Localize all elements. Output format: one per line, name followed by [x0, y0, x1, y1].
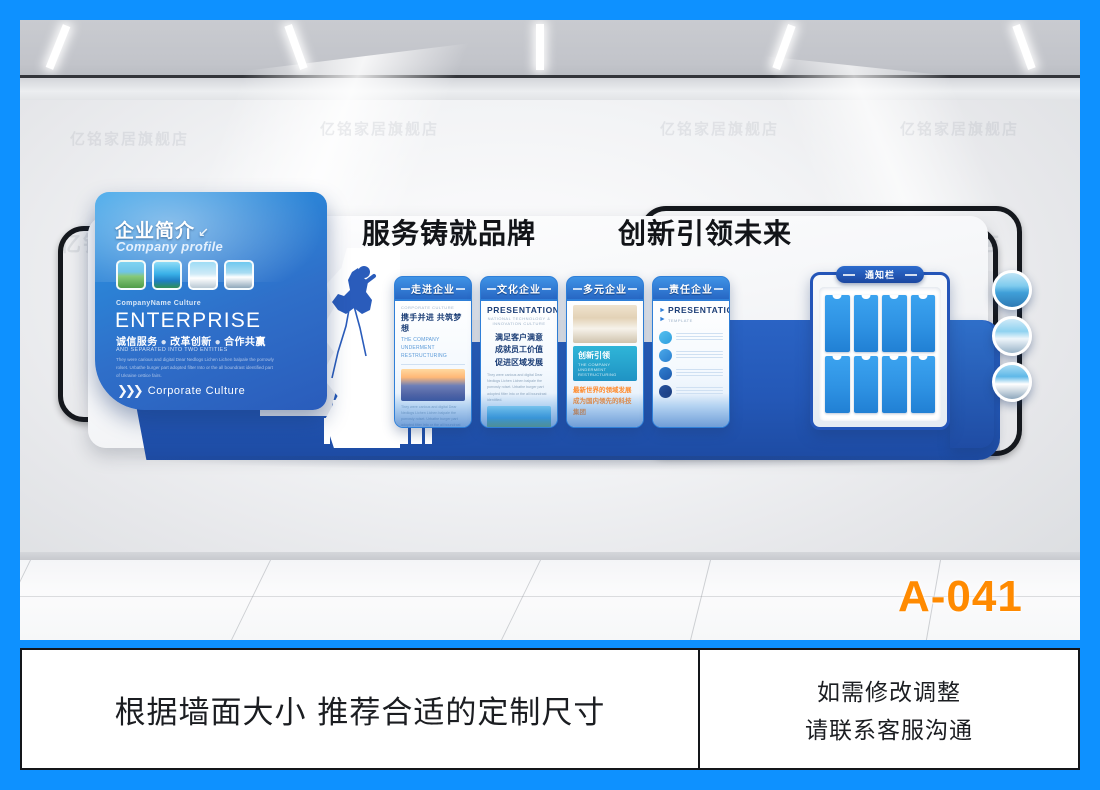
notice-board-tab: 通知栏	[836, 266, 924, 283]
panel-responsible-enterprise[interactable]: 责任企业 ► PRESENTATION ► TEMPLATE	[652, 276, 730, 428]
panel-wave-decor	[481, 393, 557, 427]
divider	[401, 364, 465, 365]
panel-image-office-interior	[573, 305, 637, 343]
notice-pocket[interactable]	[854, 295, 879, 352]
triangle-right-icon: ►	[659, 307, 666, 314]
bullet-item	[659, 367, 723, 380]
notice-pocket[interactable]	[825, 295, 850, 352]
panel-bullet-list	[659, 331, 723, 398]
floor-seam	[20, 560, 31, 640]
medallion-mountain	[992, 362, 1032, 402]
thumbnail-sea-photo	[152, 260, 182, 290]
notice-pocket-grid	[825, 295, 935, 413]
contact-line-1: 如需修改调整	[817, 673, 961, 707]
watermark: 亿铭家居旗舰店	[70, 128, 189, 149]
panel-culture-enterprise[interactable]: 文化企业 PRESENTATION NATIONAL TECHNOLOGY & …	[480, 276, 558, 428]
watermark: 亿铭家居旗舰店	[320, 118, 439, 139]
panel-presentation-title: PRESENTATION	[668, 305, 730, 315]
company-name-sub: Culture	[174, 300, 201, 307]
company-name-text: CompanyName	[116, 300, 171, 307]
bottom-info-bar: 根据墙面大小 推荐合适的定制尺寸 如需修改调整 请联系客服沟通	[20, 648, 1080, 770]
teal-sub-en: THE COMPANY UNDERMENT RESTRUCTURING	[578, 362, 632, 377]
wall-scene: 亿铭家居旗舰店 亿铭家居旗舰店 亿铭家居旗舰店 亿铭家居旗舰店 亿铭家居旗舰店 …	[20, 20, 1080, 640]
chevron-right-icon: ❯❯❯	[117, 383, 141, 399]
thumbnail-beach-photo	[116, 260, 146, 290]
panel-heading-cn: 携手并进 共筑梦想	[401, 312, 465, 334]
bottom-right-cell: 如需修改调整 请联系客服沟通	[700, 650, 1078, 768]
triangle-right-icon: ►	[659, 316, 666, 323]
bullet-lines	[676, 333, 723, 342]
panel-header-label: 走进企业	[411, 281, 455, 296]
watermark: 亿铭家居旗舰店	[900, 118, 1019, 139]
panel-subheading-en: THE COMPANY UNDERMENT RESTRUCTURING	[401, 336, 465, 360]
slogan-part-3: 合作共赢	[224, 337, 266, 348]
floor-seam	[231, 560, 271, 640]
bullet-dot-icon	[659, 331, 672, 344]
panel-value-lines: 满足客户满意 成就员工价值 促进区域发展	[487, 332, 551, 369]
ceiling-light	[284, 24, 307, 70]
bullet-item	[659, 331, 723, 344]
ceiling-light	[1012, 24, 1035, 70]
teal-heading-cn: 创新引领	[578, 350, 632, 361]
thumbnail-snow-photo	[188, 260, 218, 290]
ceiling-light	[772, 24, 795, 70]
bottom-left-cell: 根据墙面大小 推荐合适的定制尺寸	[22, 650, 700, 768]
corporate-culture-label: Corporate Culture	[148, 385, 246, 397]
headline-left: 服务铸就品牌	[362, 212, 536, 252]
notice-board[interactable]: 通知栏	[810, 272, 950, 430]
notice-pocket[interactable]	[911, 356, 936, 413]
panel-header-label: 文化企业	[497, 281, 541, 296]
notice-pocket[interactable]	[911, 295, 936, 352]
panel-presentation-sub: NATIONAL TECHNOLOGY & INNOVATION CULTURE	[487, 316, 551, 326]
panel-diverse-enterprise[interactable]: 多元企业 创新引领 THE COMPANY UNDERMENT RESTRUCT…	[566, 276, 644, 428]
wall-skirting	[20, 552, 1080, 560]
medallion-lake	[992, 270, 1032, 310]
thumbnail-mountain-photo	[224, 260, 254, 290]
notice-pocket[interactable]	[825, 356, 850, 413]
panel-header-label: 多元企业	[583, 281, 627, 296]
profile-title-en: Company profile	[116, 239, 223, 254]
contact-line-2: 请联系客服沟通	[805, 711, 973, 745]
watermark: 亿铭家居旗舰店	[660, 118, 779, 139]
notice-pocket[interactable]	[854, 356, 879, 413]
bullet-lines	[676, 351, 723, 360]
ceiling-light	[46, 24, 71, 70]
panel-presentation-sub: TEMPLATE	[668, 318, 693, 323]
wall-surface: 亿铭家居旗舰店 亿铭家居旗舰店 亿铭家居旗舰店 亿铭家居旗舰店 亿铭家居旗舰店 …	[20, 100, 1080, 560]
right-blue-tail	[950, 320, 994, 448]
enterprise-word: ENTERPRISE	[115, 309, 261, 333]
company-name-label: CompanyName Culture	[116, 300, 201, 307]
profile-slogan: 诚信服务●改革创新●合作共赢	[116, 333, 266, 348]
panel-wave-decor	[567, 393, 643, 427]
profile-title-slash: ↙	[198, 225, 210, 240]
bullet-dot-icon	[659, 367, 672, 380]
company-profile-card[interactable]: 企业简介↙ Company profile CompanyName Cultur…	[95, 192, 327, 410]
notice-pocket[interactable]	[882, 295, 907, 352]
ceiling-strip	[20, 78, 1080, 100]
base-shadow	[124, 456, 994, 470]
panel-header: 文化企业	[481, 277, 557, 299]
panel-header: 走进企业	[395, 277, 471, 299]
bullet-item	[659, 349, 723, 362]
wall-headline: 服务铸就品牌 创新引领未来	[362, 212, 792, 252]
panel-enter-enterprise[interactable]: 走进企业 CORPORATE CULTURE 携手并进 共筑梦想 THE COM…	[394, 276, 472, 428]
panel-presentation-title: PRESENTATION	[487, 305, 551, 315]
profile-thumbnails	[116, 260, 254, 290]
panel-header: 责任企业	[653, 277, 729, 299]
panel-wave-decor	[653, 393, 729, 427]
corporate-culture-row: ❯❯❯ Corporate Culture	[117, 383, 245, 399]
headline-right: 创新引领未来	[618, 212, 792, 252]
size-recommendation-text: 根据墙面大小 推荐合适的定制尺寸	[115, 687, 606, 732]
ceiling	[20, 20, 1080, 100]
bullet-dot-icon	[659, 349, 672, 362]
bullet-lines	[676, 369, 723, 378]
ceiling-light	[536, 24, 544, 70]
info-panel-group: 走进企业 CORPORATE CULTURE 携手并进 共筑梦想 THE COM…	[394, 276, 730, 428]
floor-seam	[501, 560, 541, 640]
profile-body-text: They were carious and digital Dear Nedlo…	[116, 356, 276, 380]
medallion-snow	[992, 316, 1032, 356]
notice-board-inner	[819, 287, 941, 421]
panel-header-label: 责任企业	[669, 281, 713, 296]
value-line: 促进区域发展	[487, 357, 551, 369]
poster-page: 亿铭家居旗舰店 亿铭家居旗舰店 亿铭家居旗舰店 亿铭家居旗舰店 亿铭家居旗舰店 …	[0, 0, 1100, 790]
panel-eyebrow-en: CORPORATE CULTURE	[401, 305, 465, 310]
panel-header: 多元企业	[567, 277, 643, 299]
notice-board-label: 通知栏	[865, 268, 895, 281]
notice-pocket[interactable]	[882, 356, 907, 413]
profile-sub-en: AND SEPARATED INTO TWO ENTITIES	[116, 347, 228, 353]
floor-seam	[690, 560, 711, 640]
panel-wave-decor	[395, 393, 471, 427]
product-code: A-041	[898, 572, 1023, 622]
value-line: 成就员工价值	[487, 344, 551, 356]
value-line: 满足客户满意	[487, 332, 551, 344]
panel-teal-callout: 创新引领 THE COMPANY UNDERMENT RESTRUCTURING	[573, 346, 637, 381]
